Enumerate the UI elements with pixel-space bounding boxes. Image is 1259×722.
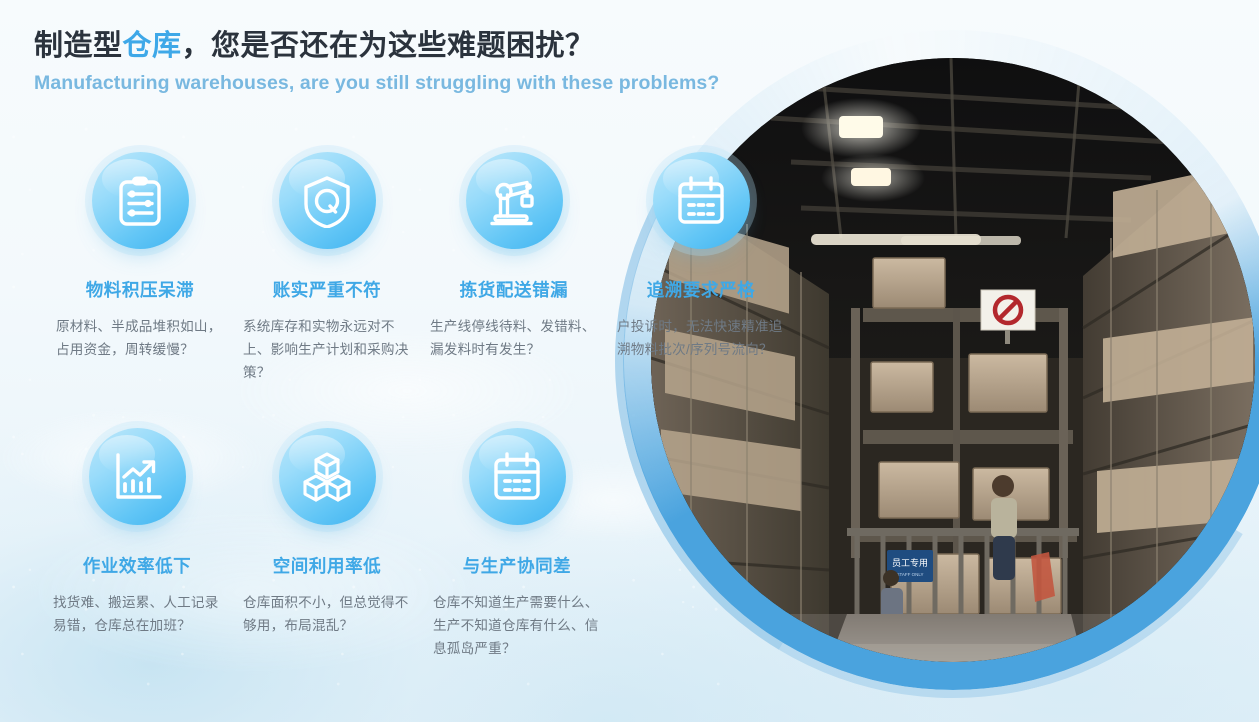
feature-card-traceability[interactable]: 追溯要求严格 户投诉时，无法快速精准追溯物料批次/序列号流向？ — [613, 152, 789, 361]
feature-title: 拣货配送错漏 — [426, 277, 602, 302]
feature-icon-badge — [466, 152, 563, 249]
svg-text:STAFF ONLY: STAFF ONLY — [896, 572, 923, 577]
feature-icon-badge — [89, 428, 186, 525]
feature-title: 账实严重不符 — [239, 277, 415, 302]
feature-card-production-sync[interactable]: 与生产协同差 仓库不知道生产需要什么、生产不知道仓库有什么、信息孤岛严重？ — [429, 428, 605, 660]
feature-description: 生产线停线待料、发错料、漏发料时有发生？ — [426, 315, 602, 361]
feature-description: 系统库存和实物永远对不上、影响生产计划和采购决策？ — [239, 315, 415, 384]
page-subtitle: Manufacturing warehouses, are you still … — [34, 72, 719, 95]
feature-title: 追溯要求严格 — [613, 277, 789, 302]
clipboard-settings-icon — [113, 174, 167, 228]
feature-title: 空间利用率低 — [239, 553, 415, 578]
feature-card-material-backlog[interactable]: 物料积压呆滞 原材料、半成品堆积如山，占用资金，周转缓慢？ — [52, 152, 228, 361]
page-title-suffix: ，您是否还在为这些难题困扰？ — [182, 30, 595, 62]
feature-icon-badge — [279, 428, 376, 525]
page-title-highlight: 仓库 — [123, 30, 182, 62]
page-title-prefix: 制造型 — [34, 30, 123, 62]
feature-title: 物料积压呆滞 — [52, 277, 228, 302]
feature-icon-badge — [279, 152, 376, 249]
feature-icon-badge — [653, 152, 750, 249]
feature-description: 找货难、搬运累、人工记录易错，仓库总在加班？ — [49, 591, 225, 637]
stacked-cubes-icon — [300, 450, 354, 504]
calendar-icon — [674, 174, 728, 228]
feature-card-stock-mismatch[interactable]: 账实严重不符 系统库存和实物永远对不上、影响生产计划和采购决策？ — [239, 152, 415, 384]
feature-description: 原材料、半成品堆积如山，占用资金，周转缓慢？ — [52, 315, 228, 361]
header-block: 制造型仓库，您是否还在为这些难题困扰？ Manufacturing wareho… — [34, 28, 719, 95]
feature-title: 与生产协同差 — [429, 553, 605, 578]
feature-description: 户投诉时，无法快速精准追溯物料批次/序列号流向？ — [613, 315, 789, 361]
feature-title: 作业效率低下 — [49, 553, 225, 578]
page-title: 制造型仓库，您是否还在为这些难题困扰？ — [34, 28, 719, 65]
feature-grid: 物料积压呆滞 原材料、半成品堆积如山，占用资金，周转缓慢？ 账实严重不符 系统库… — [0, 152, 860, 704]
growth-chart-icon — [110, 450, 164, 504]
calendar-icon — [490, 450, 544, 504]
shield-quality-icon — [300, 174, 354, 228]
feature-row-1: 物料积压呆滞 原材料、半成品堆积如山，占用资金，周转缓慢？ 账实严重不符 系统库… — [0, 152, 860, 428]
feature-description: 仓库不知道生产需要什么、生产不知道仓库有什么、信息孤岛严重？ — [429, 591, 605, 660]
svg-text:员工专用: 员工专用 — [892, 557, 928, 568]
feature-card-picking-errors[interactable]: 拣货配送错漏 生产线停线待料、发错料、漏发料时有发生？ — [426, 152, 602, 361]
promo-banner: 员工专用 STAFF ONLY 制造 — [0, 0, 1259, 722]
feature-row-2: 作业效率低下 找货难、搬运累、人工记录易错，仓库总在加班？ — [0, 428, 860, 704]
feature-card-space-utilization[interactable]: 空间利用率低 仓库面积不小，但总觉得不够用，布局混乱？ — [239, 428, 415, 637]
robot-arm-icon — [487, 174, 541, 228]
feature-description: 仓库面积不小，但总觉得不够用，布局混乱？ — [239, 591, 415, 637]
feature-icon-badge — [469, 428, 566, 525]
feature-card-low-efficiency[interactable]: 作业效率低下 找货难、搬运累、人工记录易错，仓库总在加班？ — [49, 428, 225, 637]
feature-icon-badge — [92, 152, 189, 249]
